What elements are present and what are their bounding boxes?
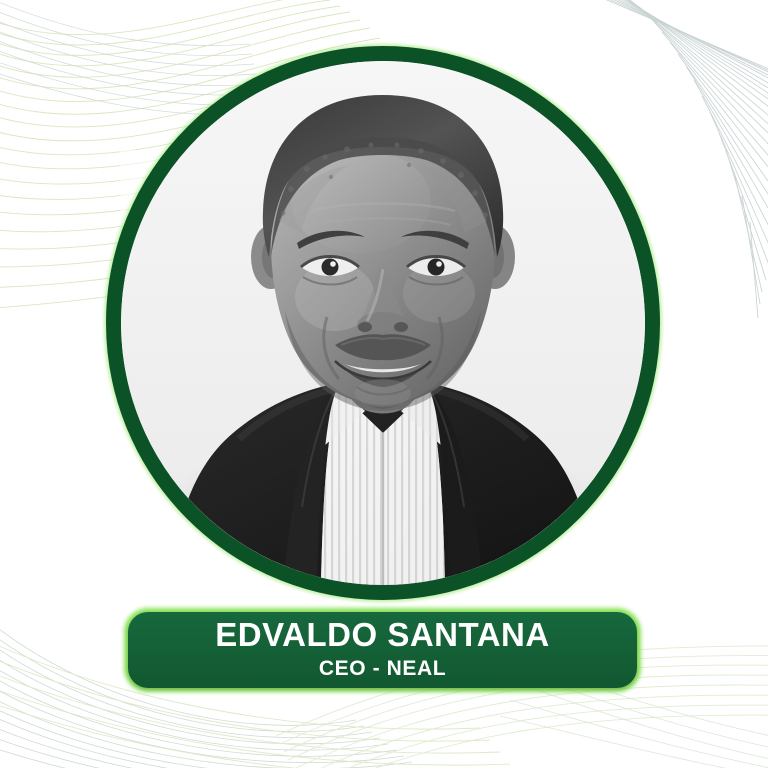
portrait [104, 44, 662, 602]
portrait-illustration [121, 61, 645, 585]
portrait-photo [121, 61, 645, 585]
portrait-ring [106, 46, 660, 600]
speaker-profile-card: EDVALDO SANTANA CEO - NEAL [0, 0, 768, 768]
speaker-role: CEO - NEAL [319, 656, 446, 682]
speaker-name: EDVALDO SANTANA [215, 618, 549, 653]
nameplate: EDVALDO SANTANA CEO - NEAL [128, 612, 637, 688]
